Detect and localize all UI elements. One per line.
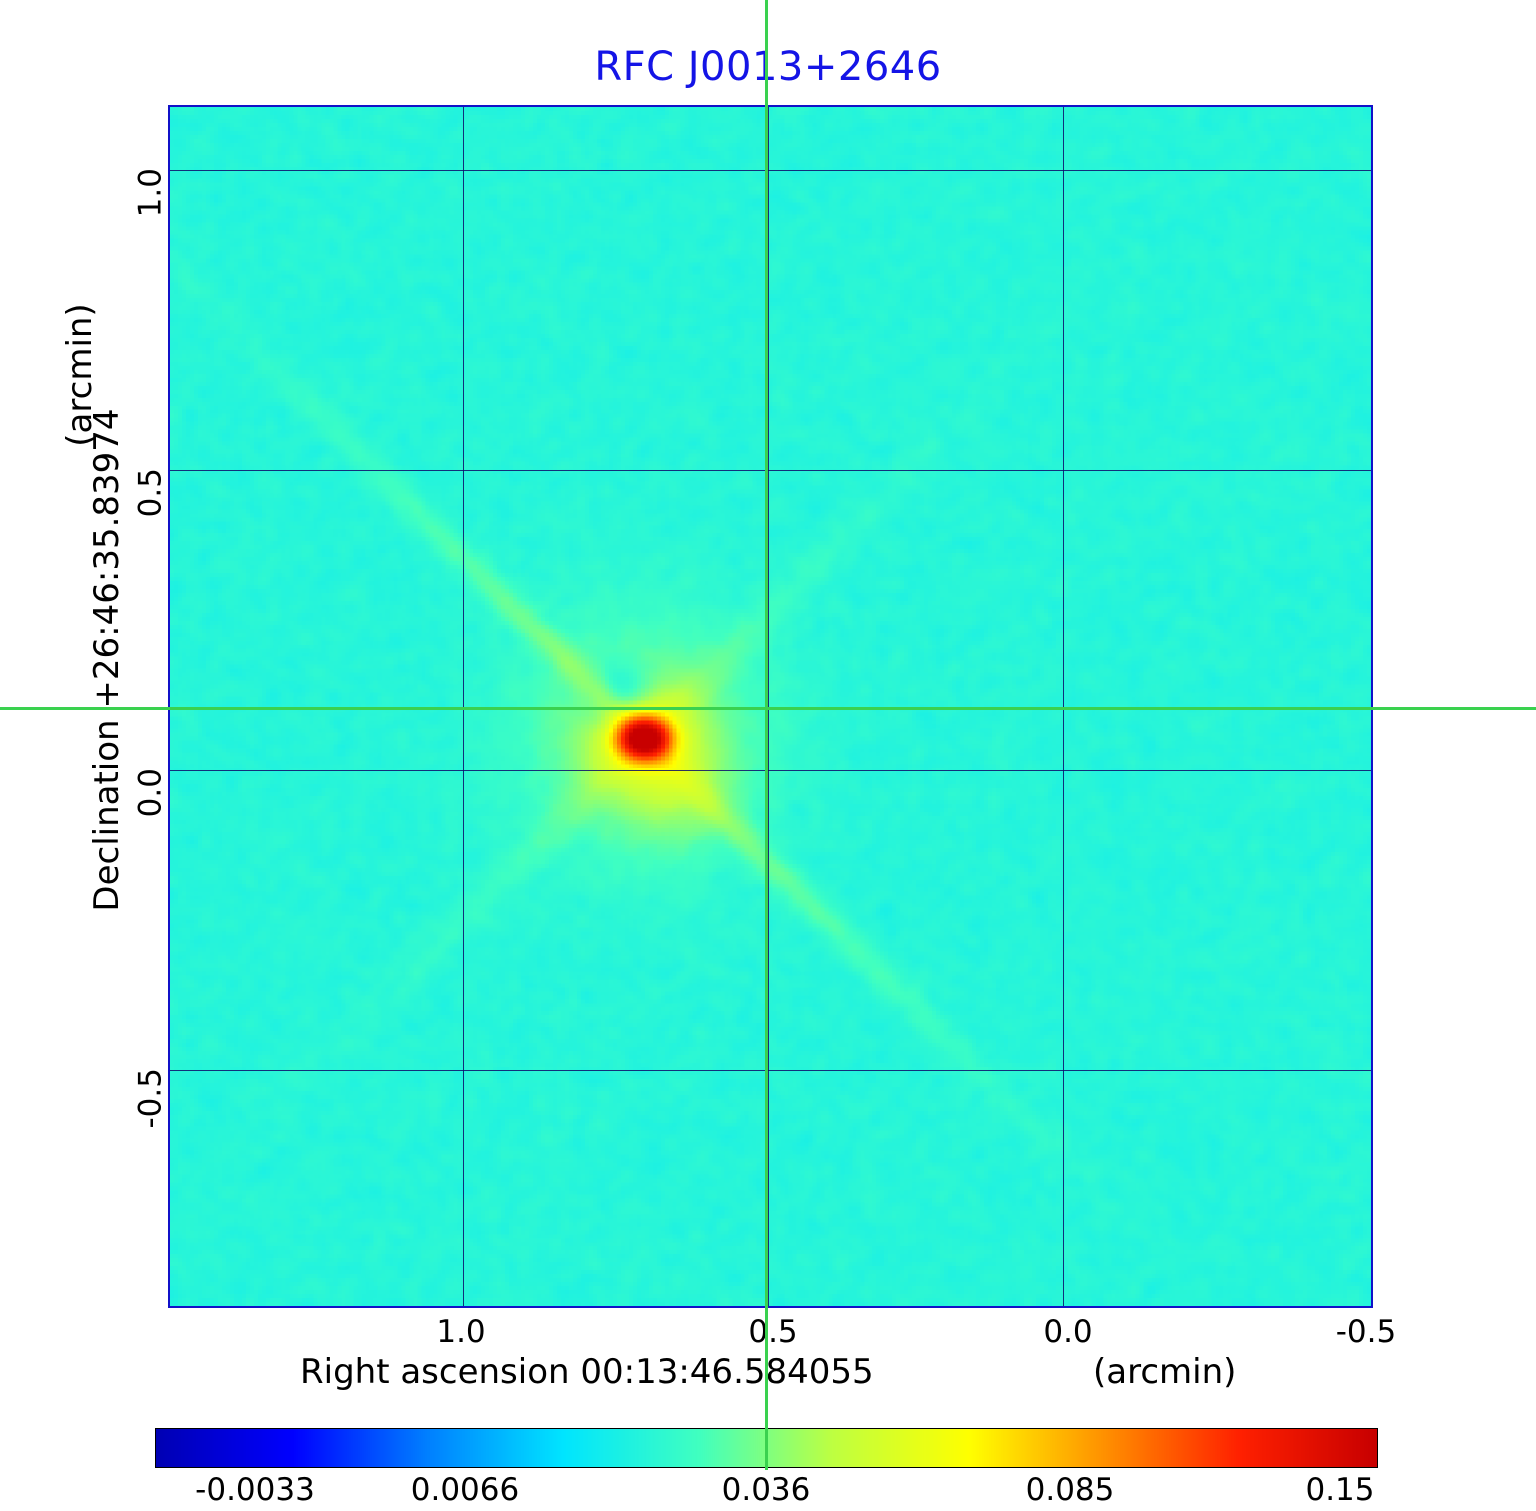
colorbar-tick-label: 0.0066 — [365, 1472, 565, 1508]
x-axis-units: (arcmin) — [1093, 1352, 1236, 1392]
colorbar-tick-label: 0.15 — [1240, 1472, 1440, 1508]
x-tick-label: 1.0 — [401, 1314, 521, 1350]
y-axis-units: (arcmin) — [60, 175, 100, 575]
x-axis-label: Right ascension 00:13:46.584055 — [300, 1352, 874, 1392]
x-tick-label: 0.5 — [713, 1314, 833, 1350]
colorbar-tick-label: -0.0033 — [155, 1472, 355, 1508]
crosshair-horizontal[interactable] — [0, 707, 1536, 710]
crosshair-vertical[interactable] — [765, 0, 768, 1470]
x-tick-label: -0.5 — [1306, 1314, 1426, 1350]
colorbar-tick-label: 0.085 — [970, 1472, 1170, 1508]
page-title: RFC J0013+2646 — [0, 44, 1536, 90]
colorbar-tick-label: 0.036 — [666, 1472, 866, 1508]
x-tick-label: 0.0 — [1008, 1314, 1128, 1350]
